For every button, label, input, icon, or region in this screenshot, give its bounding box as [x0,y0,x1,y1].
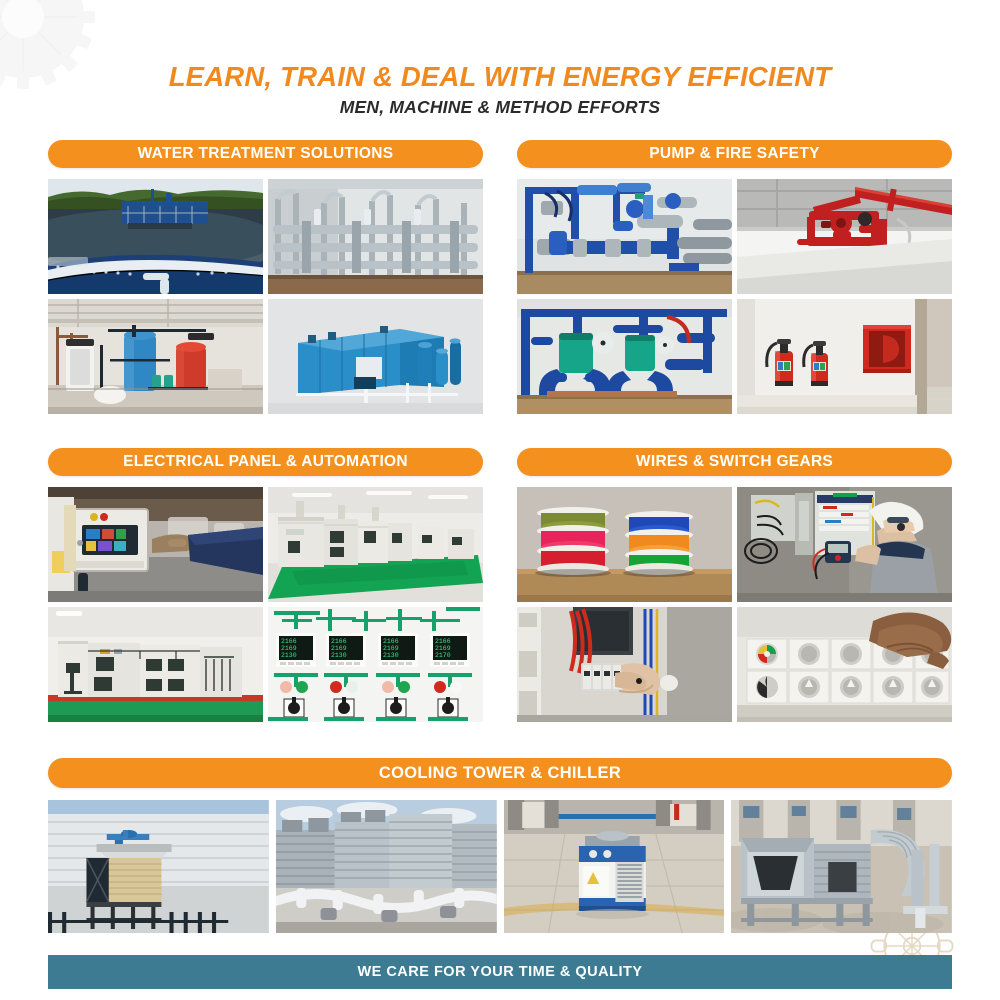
page-title: LEARN, TRAIN & DEAL WITH ENERGY EFFICIEN… [0,62,1000,92]
svg-text:2170: 2170 [435,652,451,659]
image-bank-of-industrial-cooling-towers-with-white-piping[interactable] [276,800,497,933]
svg-text:2169: 2169 [383,645,399,652]
image-stainless-steel-ro-membrane-skid-piping[interactable] [268,179,483,294]
image-circular-clarifier-water-treatment-plant[interactable] [48,179,263,294]
svg-text:2169: 2169 [435,645,451,652]
section-header-wires-and-switch-gears[interactable]: WIRES & SWITCH GEARS [517,448,952,476]
svg-text:2130: 2130 [331,652,347,659]
page-header: LEARN, TRAIN & DEAL WITH ENERGY EFFICIEN… [0,0,1000,118]
image-industrial-air-handling-chiller-skid-with-ductwork[interactable] [731,800,952,933]
image-electrician-in-hard-hat-testing-distribution-board-with-multimeter[interactable] [737,487,952,602]
image-fiberglass-cooling-tower-on-steel-stand-outdoors[interactable] [48,800,269,933]
image-grid-cooling-tower-and-chiller [48,800,952,933]
image-blue-pump-manifold-with-valves[interactable] [517,179,732,294]
svg-text:2130: 2130 [383,652,399,659]
image-grid-wires-and-switch-gears [517,487,952,722]
image-digital-multifunction-meters-with-push-buttons-and-selector-switches[interactable]: 216621692130 216621692130 [268,607,483,722]
row-spacer-2 [48,722,952,758]
image-red-fire-extinguishers-and-wall-mounted-hose-reel-cabinet[interactable] [737,299,952,414]
svg-text:2130: 2130 [281,652,297,659]
svg-text:2166: 2166 [435,638,451,645]
svg-text:2169: 2169 [331,645,347,652]
svg-text:2169: 2169 [281,645,297,652]
footer-tagline-text: WE CARE FOR YOUR TIME & QUALITY [357,964,642,980]
image-operator-using-hmi-touchscreen-control-panel[interactable] [48,487,263,602]
section-header-electrical-panel-and-automation[interactable]: ELECTRICAL PANEL & AUTOMATION [48,448,483,476]
section-water-treatment-solutions: WATER TREATMENT SOLUTIONS [48,140,483,414]
svg-text:2166: 2166 [383,638,399,645]
svg-text:2166: 2166 [281,638,297,645]
image-grid-pump-and-fire-safety [517,179,952,414]
image-spools-of-coloured-electrical-cable-on-wooden-bench[interactable] [517,487,732,602]
image-blue-packaged-effluent-treatment-plant-unit[interactable] [268,299,483,414]
image-hand-adjusting-round-rotary-wall-switches-and-dimmers[interactable] [737,607,952,722]
section-row-2: ELECTRICAL PANEL & AUTOMATION [48,448,952,722]
image-blue-and-white-packaged-air-cooled-chiller-unit[interactable] [504,800,725,933]
page-subtitle: MEN, MACHINE & METHOD EFFORTS [0,97,1000,118]
svg-text:2166: 2166 [331,638,347,645]
image-lt-distribution-panel-boards-with-mimic-diagram[interactable] [48,607,263,722]
section-header-pump-and-fire-safety[interactable]: PUMP & FIRE SAFETY [517,140,952,168]
section-row-1: WATER TREATMENT SOLUTIONS [48,140,952,414]
section-electrical-panel-and-automation: ELECTRICAL PANEL & AUTOMATION [48,448,483,722]
image-hand-holding-mcb-module-near-wired-consumer-unit[interactable] [517,607,732,722]
image-grid-water-treatment-solutions [48,179,483,414]
image-row-of-electrical-switchgear-panels-in-green-floor-room[interactable] [268,487,483,602]
image-water-softener-plant-room-with-blue-tank-and-red-pressure-vessel[interactable] [48,299,263,414]
section-header-water-treatment-solutions[interactable]: WATER TREATMENT SOLUTIONS [48,140,483,168]
section-cooling-tower-and-chiller: COOLING TOWER & CHILLER [48,758,952,933]
image-green-centrifugal-pumps-with-blue-header-piping[interactable] [517,299,732,414]
section-header-cooling-tower-and-chiller[interactable]: COOLING TOWER & CHILLER [48,758,952,788]
image-red-fire-sprinkler-pipe-and-valve-assembly-on-ceiling[interactable] [737,179,952,294]
row-spacer-1 [48,414,952,448]
section-wires-and-switch-gears: WIRES & SWITCH GEARS [517,448,952,722]
section-pump-and-fire-safety: PUMP & FIRE SAFETY [517,140,952,414]
image-grid-electrical-panel-and-automation: 216621692130 216621692130 [48,487,483,722]
footer-tagline-bar: WE CARE FOR YOUR TIME & QUALITY [48,955,952,989]
